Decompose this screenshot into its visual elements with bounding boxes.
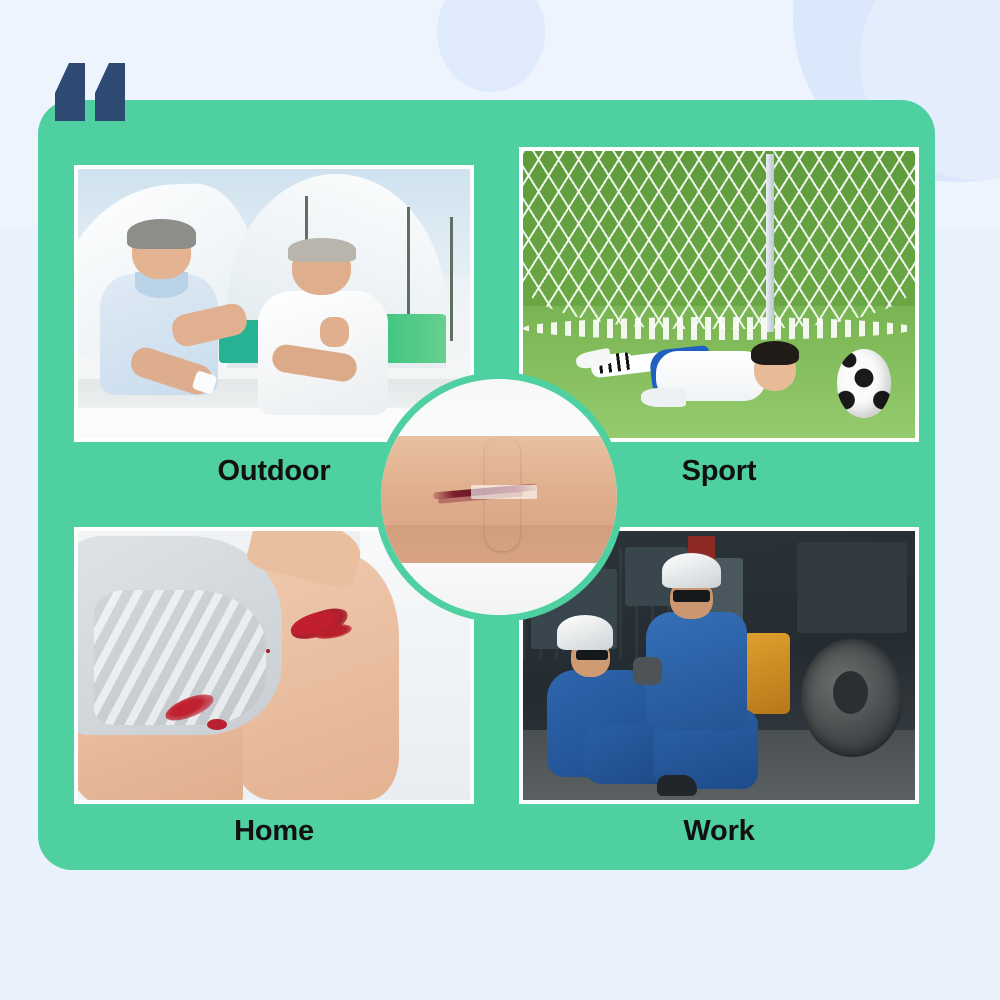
image-wound-closure-strip	[381, 379, 617, 615]
soccer-player	[586, 335, 837, 415]
hero-product-circle[interactable]	[374, 372, 624, 622]
person-helper	[98, 223, 231, 438]
tile-label-home: Home	[74, 815, 474, 848]
worker-helper	[641, 553, 774, 790]
poster-canvas: “ Outdoor	[0, 0, 1000, 1000]
tile-label-work: Work	[519, 815, 919, 848]
quotation-mark-icon: “	[55, 63, 127, 121]
soccer-ball-icon	[837, 349, 892, 418]
person-injured	[258, 242, 399, 438]
